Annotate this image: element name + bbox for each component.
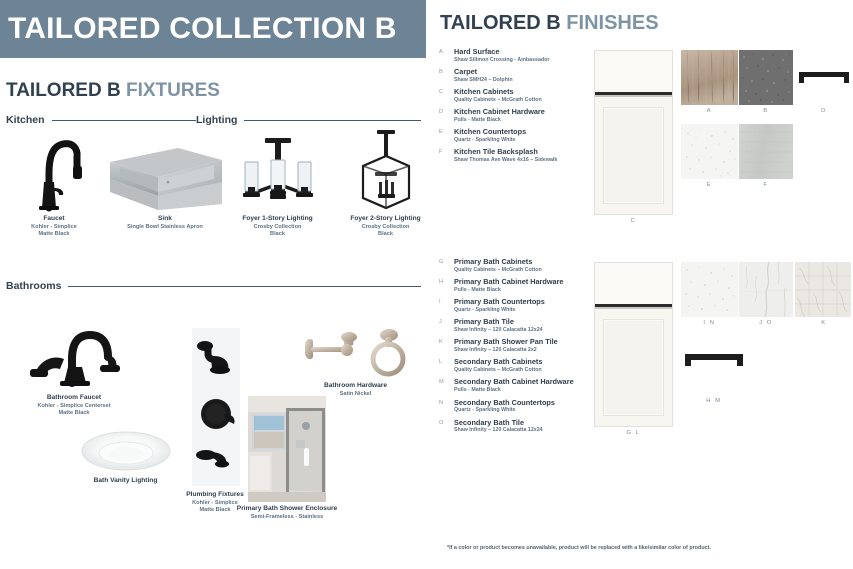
group-header-bathrooms: Bathrooms <box>6 280 421 292</box>
legend-item: E Kitchen Countertops Quartz - Sparkling… <box>439 128 557 143</box>
cabinet-door-graphic <box>594 50 673 215</box>
page-title: TAILORED COLLECTION B <box>0 12 397 46</box>
swatch-bath-tile: J O <box>739 262 793 328</box>
legend-desc: Quality Cabinets – McGrath Cotton <box>454 367 574 374</box>
legend-letter: A <box>439 49 443 55</box>
swatch-label-d: D <box>795 108 853 114</box>
shower-enclosure-photo <box>212 394 362 502</box>
door-top-rail <box>595 51 672 93</box>
product-bathroom-hardware: Bathroom Hardware Satin Nickel <box>288 323 423 398</box>
towel-ring-icon <box>288 323 423 379</box>
legend-letter: N <box>439 400 443 406</box>
group-header-kitchen: Kitchen <box>6 114 196 126</box>
door-center-panel <box>603 107 664 204</box>
door-top-rail <box>595 263 672 305</box>
product-sub2: Black <box>333 231 438 239</box>
group-header-lighting: Lighting <box>196 114 421 126</box>
legend-name: Primary Bath Shower Pan Tile <box>454 338 574 347</box>
hard-surface-texture <box>681 50 738 105</box>
product-name: Bathroom Hardware <box>288 382 423 391</box>
legend-name: Primary Bath Cabinets <box>454 258 574 267</box>
legend-item: A Hard Surface Shaw Sillmon Crossing - A… <box>439 48 557 63</box>
quartz-texture <box>681 124 738 179</box>
legend-desc: Quality Cabinets – McGrath Cotton <box>454 267 574 274</box>
disclaimer-footnote: *If a color or product becomes unavailab… <box>447 545 711 551</box>
product-bathroom-faucet: Bathroom Faucet Kohler - Simplice Center… <box>4 306 144 418</box>
legend-name: Kitchen Tile Backsplash <box>454 148 557 157</box>
legend-item: L Secondary Bath Cabinets Quality Cabine… <box>439 358 574 373</box>
swatch-bath-countertop: I N <box>681 262 738 328</box>
swatch-kitchen-pull: D <box>795 50 853 116</box>
door-reveal-light <box>595 95 672 97</box>
backsplash-texture <box>739 124 793 179</box>
legend-letter: K <box>439 339 443 345</box>
product-sub2: Matte Black <box>4 231 104 239</box>
swatch-hard-surface: A <box>681 50 738 116</box>
product-sub2: Matte Black <box>4 410 144 418</box>
product-name: Faucet <box>4 215 104 224</box>
legend-desc: Quartz - Sparkling White <box>454 307 574 314</box>
group-label-bathrooms: Bathrooms <box>6 280 61 292</box>
fixtures-column: TAILORED B FIXTURES Kitchen Lighting Fau… <box>0 58 426 569</box>
legend-desc: Shaw Thomas Ave Wave 4x16 – Sidewalk <box>454 157 557 164</box>
legend-item: D Kitchen Cabinet Hardware Pulls - Matte… <box>439 108 557 123</box>
legend-name: Secondary Bath Cabinet Hardware <box>454 378 574 387</box>
legend-desc: Shaw Infinity – 120 Calacatta 2x2 <box>454 347 574 354</box>
swatch-carpet: B <box>739 50 793 116</box>
swatch-label-b: B <box>739 108 793 114</box>
swatch-kitchen-backsplash: F <box>739 124 793 190</box>
legend-item: J Primary Bath Tile Shaw Infinity – 120 … <box>439 318 574 333</box>
legend-desc: Pulls - Matte Black <box>454 387 574 394</box>
legend-letter: F <box>439 149 442 155</box>
bath-faucet-icon <box>4 306 144 391</box>
product-faucet: Faucet Kohler - Simplice Matte Black <box>4 130 104 239</box>
door-center-panel <box>603 319 664 416</box>
swatch-kitchen-countertop: E <box>681 124 738 190</box>
swatch-label-in: I N <box>681 320 738 326</box>
swatch-bath-cabinet: G L <box>594 262 673 442</box>
swatch-label-gl: G L <box>594 430 673 436</box>
group-rule-lighting <box>244 120 421 121</box>
group-label-lighting: Lighting <box>196 114 237 126</box>
legend-name: Kitchen Countertops <box>454 128 557 137</box>
swatch-label-hm: H M <box>681 398 747 404</box>
legend-name: Secondary Bath Cabinets <box>454 358 574 367</box>
product-sub1: Kohler - Simplice <box>4 224 104 232</box>
legend-letter: O <box>439 420 443 426</box>
legend-name: Hard Surface <box>454 48 557 57</box>
product-sub1: Semi-Frameless - Stainless <box>212 514 362 522</box>
legend-desc: Quality Cabinets – McGrath Cotton <box>454 97 557 104</box>
legend-letter: D <box>439 109 443 115</box>
legend-item: N Secondary Bath Countertops Quartz - Sp… <box>439 399 574 414</box>
finishes-heading: TAILORED B FINISHES <box>440 12 659 35</box>
swatch-bath-pull: H M <box>681 350 747 416</box>
legend-desc: Quartz - Sparkling White <box>454 137 557 144</box>
product-name: Foyer 2-Story Lighting <box>333 215 438 224</box>
legend-name: Primary Bath Tile <box>454 318 574 327</box>
cabinet-pull-icon <box>795 50 853 105</box>
legend-letter: H <box>439 279 443 285</box>
fixtures-heading: TAILORED B FIXTURES <box>6 80 220 102</box>
legend-letter: M <box>439 379 444 385</box>
legend-name: Secondary Bath Countertops <box>454 399 574 408</box>
legend-item: K Primary Bath Shower Pan Tile Shaw Infi… <box>439 338 574 353</box>
product-primary-bath-shower-enclosure: Primary Bath Shower Enclosure Semi-Frame… <box>212 394 362 521</box>
product-foyer-1-story-lighting: Foyer 1-Story Lighting Crosby Collection… <box>225 130 330 239</box>
legend-item: F Kitchen Tile Backsplash Shaw Thomas Av… <box>439 148 557 163</box>
finishes-legend-bottom: G Primary Bath Cabinets Quality Cabinets… <box>439 258 574 439</box>
legend-name: Secondary Bath Tile <box>454 419 574 428</box>
door-reveal-light <box>595 307 672 309</box>
legend-letter: B <box>439 69 443 75</box>
product-name: Foyer 1-Story Lighting <box>225 215 330 224</box>
calacatta-tile-texture <box>739 262 793 317</box>
swatch-kitchen-cabinet: C <box>594 50 673 225</box>
legend-letter: E <box>439 129 443 135</box>
cabinet-door-graphic <box>594 262 673 427</box>
kitchen-faucet-icon <box>4 130 104 212</box>
header-bar: TAILORED COLLECTION B <box>0 0 426 58</box>
legend-item: C Kitchen Cabinets Quality Cabinets – Mc… <box>439 88 557 103</box>
lantern-pendant-icon <box>333 130 438 212</box>
legend-desc: Quartz - Sparkling White <box>454 407 574 414</box>
swatch-label-c: C <box>594 218 673 224</box>
finishes-heading-strong: TAILORED B <box>440 12 561 34</box>
finishes-heading-light: FINISHES <box>566 12 658 34</box>
finishes-legend-top: A Hard Surface Shaw Sillmon Crossing - A… <box>439 48 557 168</box>
product-sub2: Black <box>225 231 330 239</box>
legend-name: Carpet <box>454 68 557 77</box>
legend-item: H Primary Bath Cabinet Hardware Pulls - … <box>439 278 574 293</box>
swatch-label-k: K <box>795 320 853 326</box>
finishes-column: TAILORED B FINISHES A Hard Surface Shaw … <box>437 0 853 569</box>
carpet-texture <box>739 50 793 105</box>
swatch-label-a: A <box>681 108 738 114</box>
product-sub1: Crosby Collection <box>225 224 330 232</box>
legend-desc: Shaw Infinity – 120 Calacatta 12x24 <box>454 427 574 434</box>
legend-desc: Shaw SMH24 – Dolphin <box>454 77 557 84</box>
semi-flush-chandelier-icon <box>225 130 330 212</box>
group-rule-bathrooms <box>68 286 421 287</box>
group-label-kitchen: Kitchen <box>6 114 45 126</box>
fixtures-heading-light: FIXTURES <box>126 80 220 101</box>
swatch-label-f: F <box>739 182 793 188</box>
legend-letter: C <box>439 89 443 95</box>
cabinet-pull-icon <box>681 350 747 380</box>
apron-sink-icon <box>100 130 230 212</box>
fixtures-heading-strong: TAILORED B <box>6 80 121 101</box>
swatch-label-e: E <box>681 182 738 188</box>
legend-name: Primary Bath Countertops <box>454 298 574 307</box>
legend-letter: G <box>439 259 443 265</box>
legend-desc: Pulls - Matte Black <box>454 117 557 124</box>
product-foyer-2-story-lighting: Foyer 2-Story Lighting Crosby Collection… <box>333 130 438 239</box>
legend-item: G Primary Bath Cabinets Quality Cabinets… <box>439 258 574 273</box>
legend-name: Primary Bath Cabinet Hardware <box>454 278 574 287</box>
legend-item: M Secondary Bath Cabinet Hardware Pulls … <box>439 378 574 393</box>
product-name: Sink <box>100 215 230 224</box>
legend-desc: Pulls - Matte Black <box>454 287 574 294</box>
legend-letter: I <box>439 299 441 305</box>
legend-desc: Shaw Infinity – 120 Calacatta 12x24 <box>454 327 574 334</box>
legend-name: Kitchen Cabinets <box>454 88 557 97</box>
product-name: Bathroom Faucet <box>4 394 144 403</box>
group-rule-kitchen <box>52 120 196 121</box>
legend-name: Kitchen Cabinet Hardware <box>454 108 557 117</box>
legend-letter: L <box>439 359 442 365</box>
product-sub1: Crosby Collection <box>333 224 438 232</box>
quartz-texture <box>681 262 738 317</box>
product-sub1: Kohler - Simplice Centerset <box>4 403 144 411</box>
mosaic-tile-texture <box>795 262 851 317</box>
product-sink: Sink Single Bowl Stainless Apron <box>100 130 230 231</box>
legend-letter: J <box>439 319 442 325</box>
product-name: Primary Bath Shower Enclosure <box>212 505 362 514</box>
swatch-shower-pan-tile: K <box>795 262 853 328</box>
legend-desc: Shaw Sillmon Crossing - Ambassador <box>454 57 557 64</box>
legend-item: B Carpet Shaw SMH24 – Dolphin <box>439 68 557 83</box>
legend-item: I Primary Bath Countertops Quartz - Spar… <box>439 298 574 313</box>
product-sub1: Single Bowl Stainless Apron <box>100 224 230 232</box>
swatch-label-jo: J O <box>739 320 793 326</box>
legend-item: O Secondary Bath Tile Shaw Infinity – 12… <box>439 419 574 434</box>
